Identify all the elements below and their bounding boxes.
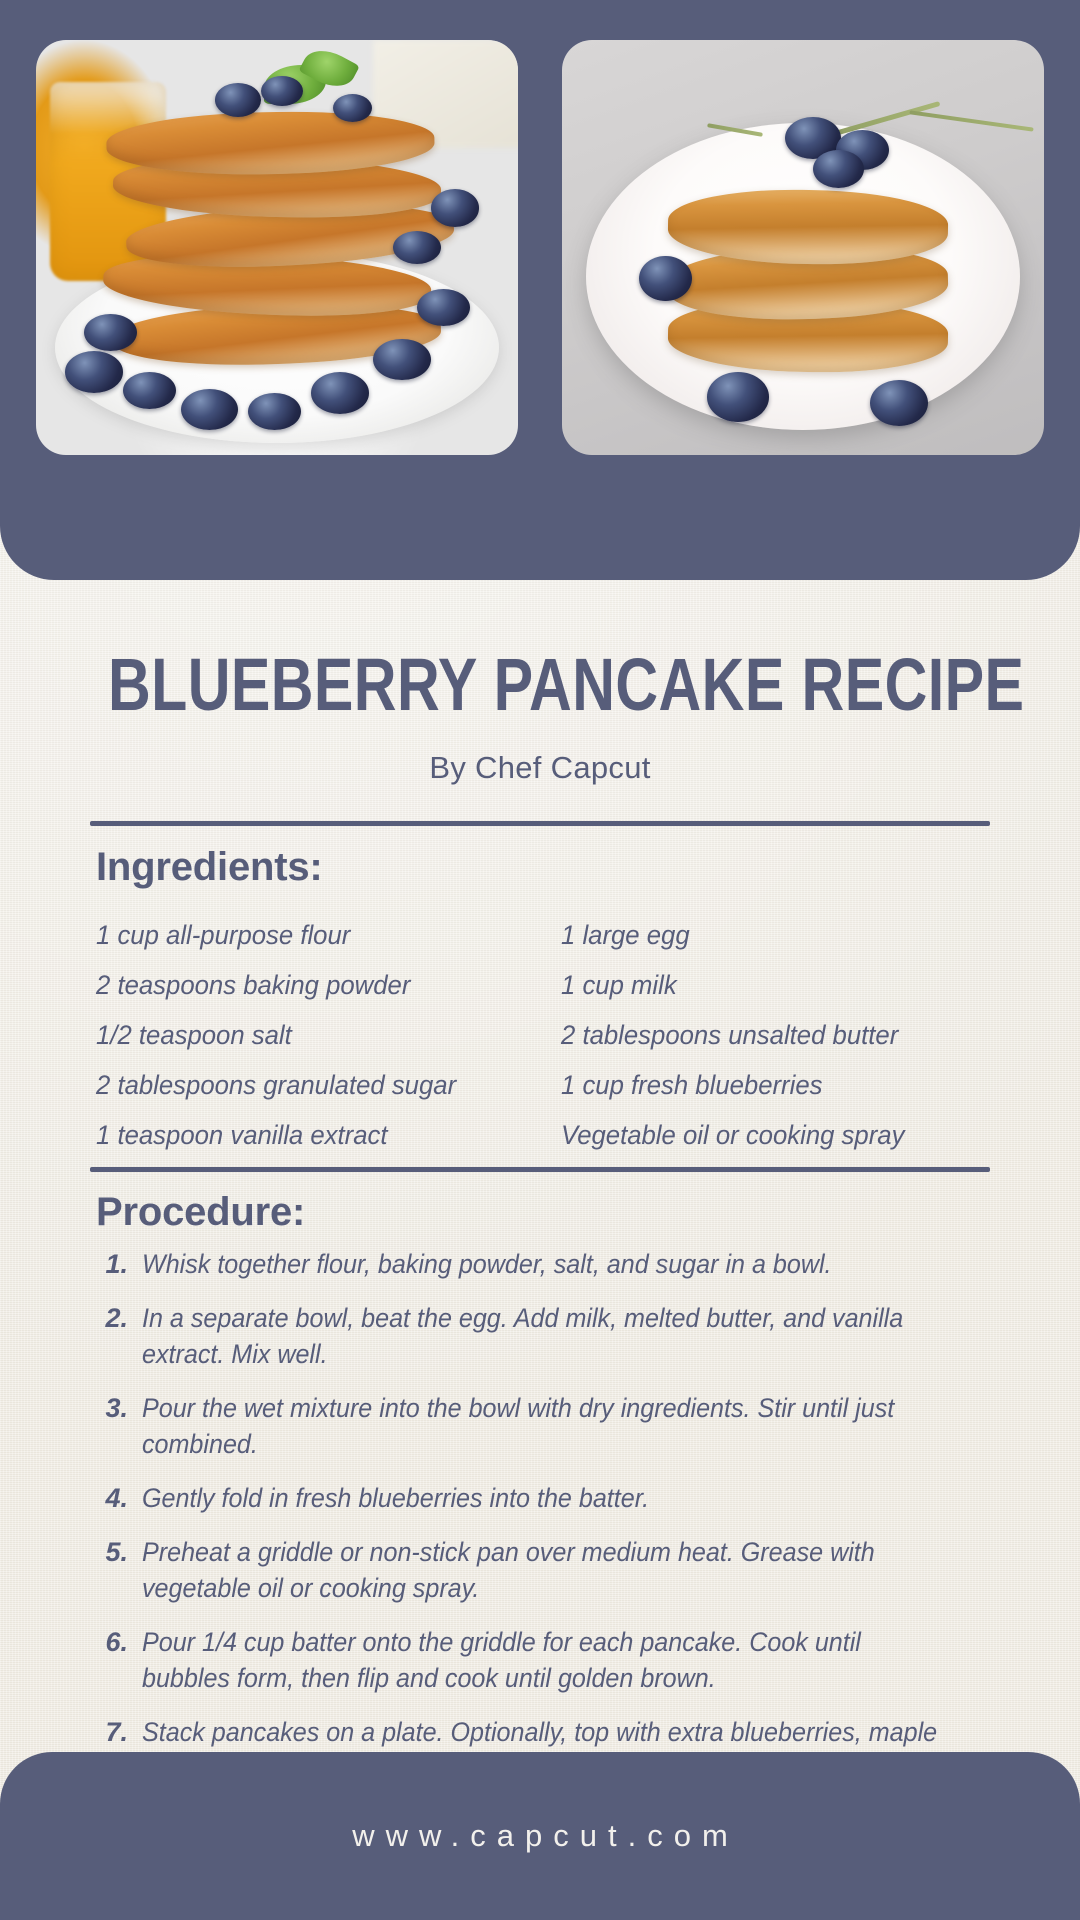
blueberry-icon	[393, 231, 441, 264]
step-text: Whisk together flour, baking powder, sal…	[142, 1246, 946, 1282]
procedure-list: 1. Whisk together flour, baking powder, …	[96, 1246, 1006, 1804]
step-text: Pour 1/4 cup batter onto the griddle for…	[142, 1624, 946, 1696]
footer-bar: www.capcut.com	[0, 1752, 1080, 1920]
ingredient-item: 1 cup milk	[561, 960, 989, 1010]
divider-ingredients	[90, 821, 990, 826]
divider-procedure	[90, 1167, 990, 1172]
procedure-heading: Procedure:	[96, 1190, 305, 1235]
ingredient-item: 1 teaspoon vanilla extract	[96, 1110, 547, 1160]
procedure-step: 4. Gently fold in fresh blueberries into…	[96, 1480, 1006, 1516]
photo-pancakes-honey	[36, 40, 518, 455]
pancake-stack	[113, 106, 441, 363]
step-number: 5.	[96, 1534, 142, 1606]
step-number: 2.	[96, 1300, 142, 1372]
ingredients-list: 1 cup all-purpose flour 1 large egg 2 te…	[96, 910, 1002, 1160]
procedure-step: 6. Pour 1/4 cup batter onto the griddle …	[96, 1624, 1006, 1696]
step-number: 1.	[96, 1246, 142, 1282]
ingredient-item: 1 cup fresh blueberries	[561, 1060, 989, 1110]
photo-row	[0, 0, 1080, 580]
pancake-layer	[106, 109, 435, 176]
blueberry-icon	[431, 189, 479, 226]
byline: By Chef Capcut	[0, 750, 1080, 786]
ingredient-item: 1 cup all-purpose flour	[96, 910, 547, 960]
procedure-step: 2. In a separate bowl, beat the egg. Add…	[96, 1300, 1006, 1372]
ingredient-item: 2 tablespoons unsalted butter	[561, 1010, 989, 1060]
ingredient-item: 2 tablespoons granulated sugar	[96, 1060, 547, 1110]
step-text: In a separate bowl, beat the egg. Add mi…	[142, 1300, 946, 1372]
recipe-poster: BLUEBERRY PANCAKE RECIPE By Chef Capcut …	[0, 0, 1080, 1920]
blueberry-icon	[215, 83, 261, 116]
ingredient-item: 1 large egg	[561, 910, 989, 960]
step-text: Preheat a griddle or non-stick pan over …	[142, 1534, 946, 1606]
thyme-sprig-icon	[909, 110, 1034, 131]
website-url[interactable]: www.capcut.com	[341, 1818, 739, 1854]
ingredient-item: 1/2 teaspoon salt	[96, 1010, 547, 1060]
photo-pancakes-plate	[562, 40, 1044, 455]
procedure-step: 1. Whisk together flour, baking powder, …	[96, 1246, 1006, 1282]
step-text: Pour the wet mixture into the bowl with …	[142, 1390, 946, 1462]
ingredient-item: 2 teaspoons baking powder	[96, 960, 547, 1010]
procedure-step: 5. Preheat a griddle or non-stick pan ov…	[96, 1534, 1006, 1606]
blueberry-icon	[813, 150, 863, 188]
procedure-step: 3. Pour the wet mixture into the bowl wi…	[96, 1390, 1006, 1462]
step-number: 4.	[96, 1480, 142, 1516]
blueberry-icon	[311, 372, 369, 414]
blueberry-icon	[65, 351, 123, 393]
thyme-sprig-icon	[826, 100, 940, 137]
blueberry-icon	[870, 380, 928, 426]
blueberry-icon	[123, 372, 176, 409]
blueberry-icon	[417, 289, 470, 326]
blueberry-icon	[181, 389, 239, 431]
pancake-layer	[667, 188, 948, 267]
ingredient-item: Vegetable oil or cooking spray	[561, 1110, 989, 1160]
step-number: 6.	[96, 1624, 142, 1696]
step-number: 3.	[96, 1390, 142, 1462]
blueberry-icon	[333, 94, 372, 122]
pancake-stack	[668, 148, 948, 372]
blueberry-icon	[707, 372, 770, 422]
ingredients-heading: Ingredients:	[96, 845, 323, 890]
step-text: Gently fold in fresh blueberries into th…	[142, 1480, 946, 1516]
page-title: BLUEBERRY PANCAKE RECIPE	[108, 642, 972, 727]
blueberry-icon	[373, 339, 431, 381]
blueberry-icon	[248, 393, 301, 430]
